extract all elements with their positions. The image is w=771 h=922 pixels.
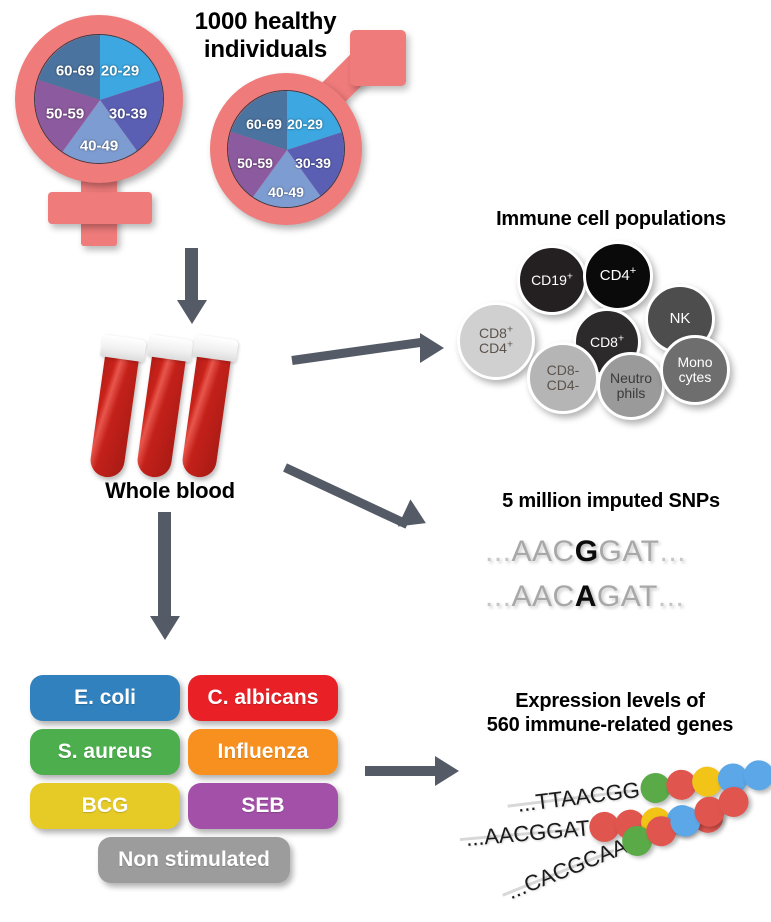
expression-strand-cluster: ...TTAACGG ...AACGGAT ...CACGCAA: [450, 755, 771, 915]
arrow-head-icon: [398, 499, 432, 536]
immune-cell-cluster: CD8+CD4+ CD19+ CD4+ NK CD8+ CD8-CD4- Neu…: [455, 240, 755, 420]
figure-canvas: 1000 healthy individuals 20-29 30-39: [0, 0, 771, 922]
immune-cell-label: NK: [670, 311, 691, 327]
female-gender-symbol: 20-29 30-39 40-49 50-59 60-69: [10, 10, 190, 235]
arrow-shaft: [158, 512, 171, 620]
immune-cells-title: Immune cell populations: [452, 208, 770, 232]
male-age-label-40-49: 40-49: [268, 184, 304, 200]
whole-blood-label: Whole blood: [70, 478, 270, 504]
immune-cell-label: CD8-CD4-: [547, 363, 580, 392]
immune-cell-cd8n-cd4n: CD8-CD4-: [527, 342, 599, 414]
arrow-blood-to-stimuli: [148, 512, 182, 642]
arrow-shaft: [291, 338, 421, 365]
immune-cell-label: CD8+: [590, 335, 624, 350]
immune-cell-neutrophils: Neutrophils: [597, 352, 665, 420]
immune-cell-cd19p: CD19+: [517, 245, 587, 315]
stimulus-s-aureus[interactable]: S. aureus: [30, 729, 180, 775]
arrow-shaft: [185, 248, 198, 304]
male-age-label-50-59: 50-59: [237, 155, 273, 171]
expression-title: Expression levels of 560 immune-related …: [450, 690, 770, 737]
snp-segment: ...: [658, 580, 685, 614]
stimulus-e-coli[interactable]: E. coli: [30, 675, 180, 721]
snp-segment: ...: [485, 580, 512, 614]
female-age-pie: 20-29 30-39 40-49 50-59 60-69: [34, 34, 164, 164]
whole-blood-tubes: [100, 333, 260, 458]
snp-sequence-row-1: ...AACGGAT...: [485, 535, 686, 569]
arrow-shaft: [283, 463, 409, 528]
arrow-head-icon: [177, 300, 207, 324]
snp-segment: ...: [485, 535, 512, 569]
snp-segment: GAT: [599, 535, 660, 569]
female-age-label-20-29: 20-29: [101, 63, 139, 80]
snp-segment: AAC: [512, 535, 575, 569]
blood-tube-body: [135, 351, 186, 480]
immune-cell-label: Monocytes: [677, 355, 712, 384]
female-symbol-crossbar: [48, 192, 152, 224]
arrow-shaft: [365, 766, 437, 776]
snp-segment: ...: [660, 535, 687, 569]
stimuli-panel: E. coli C. albicans S. aureus Influenza …: [30, 675, 350, 890]
snp-variant-allele: A: [575, 580, 597, 614]
male-age-label-60-69: 60-69: [246, 116, 282, 132]
snp-sequences: ...AACGGAT... ...AACAGAT...: [485, 535, 750, 625]
female-age-label-60-69: 60-69: [56, 63, 94, 80]
male-age-pie: 20-29 30-39 40-49 50-59 60-69: [227, 90, 345, 208]
blood-tube-body: [180, 351, 231, 480]
strand-sequence: ...AACGGAT: [465, 815, 591, 852]
immune-cell-label: CD8+CD4+: [479, 326, 513, 355]
female-age-label-50-59: 50-59: [46, 106, 84, 123]
arrow-cohort-to-blood: [175, 248, 209, 326]
snp-sequence-row-2: ...AACAGAT...: [485, 580, 684, 614]
female-age-label-40-49: 40-49: [80, 138, 118, 155]
immune-cell-cd4p: CD4+: [583, 241, 653, 311]
immune-cell-cd8p-cd4p: CD8+CD4+: [457, 302, 535, 380]
stimulus-influenza[interactable]: Influenza: [188, 729, 338, 775]
immune-cell-monocytes: Monocytes: [660, 335, 730, 405]
arrow-head-icon: [150, 616, 180, 640]
arrow-blood-to-snps: [285, 455, 460, 550]
snp-variant-allele: G: [575, 535, 599, 569]
immune-cell-label: Neutrophils: [610, 371, 652, 400]
stimulus-non-stimulated[interactable]: Non stimulated: [98, 837, 290, 883]
stimulus-bcg[interactable]: BCG: [30, 783, 180, 829]
stimulus-seb[interactable]: SEB: [188, 783, 338, 829]
arrow-head-icon: [420, 333, 444, 363]
immune-cell-label: CD19+: [531, 273, 573, 288]
immune-cell-label: CD4+: [600, 268, 637, 284]
snps-title: 5 million imputed SNPs: [452, 490, 770, 514]
female-age-label-30-39: 30-39: [109, 106, 147, 123]
male-age-label-30-39: 30-39: [295, 155, 331, 171]
snp-segment: GAT: [597, 580, 658, 614]
male-age-label-20-29: 20-29: [287, 116, 323, 132]
snp-segment: AAC: [512, 580, 575, 614]
arrow-blood-to-immune-cells: [292, 330, 462, 378]
stimulus-c-albicans[interactable]: C. albicans: [188, 675, 338, 721]
blood-tube-body: [88, 351, 139, 480]
male-gender-symbol: 20-29 30-39 40-49 50-59 60-69: [205, 55, 405, 250]
